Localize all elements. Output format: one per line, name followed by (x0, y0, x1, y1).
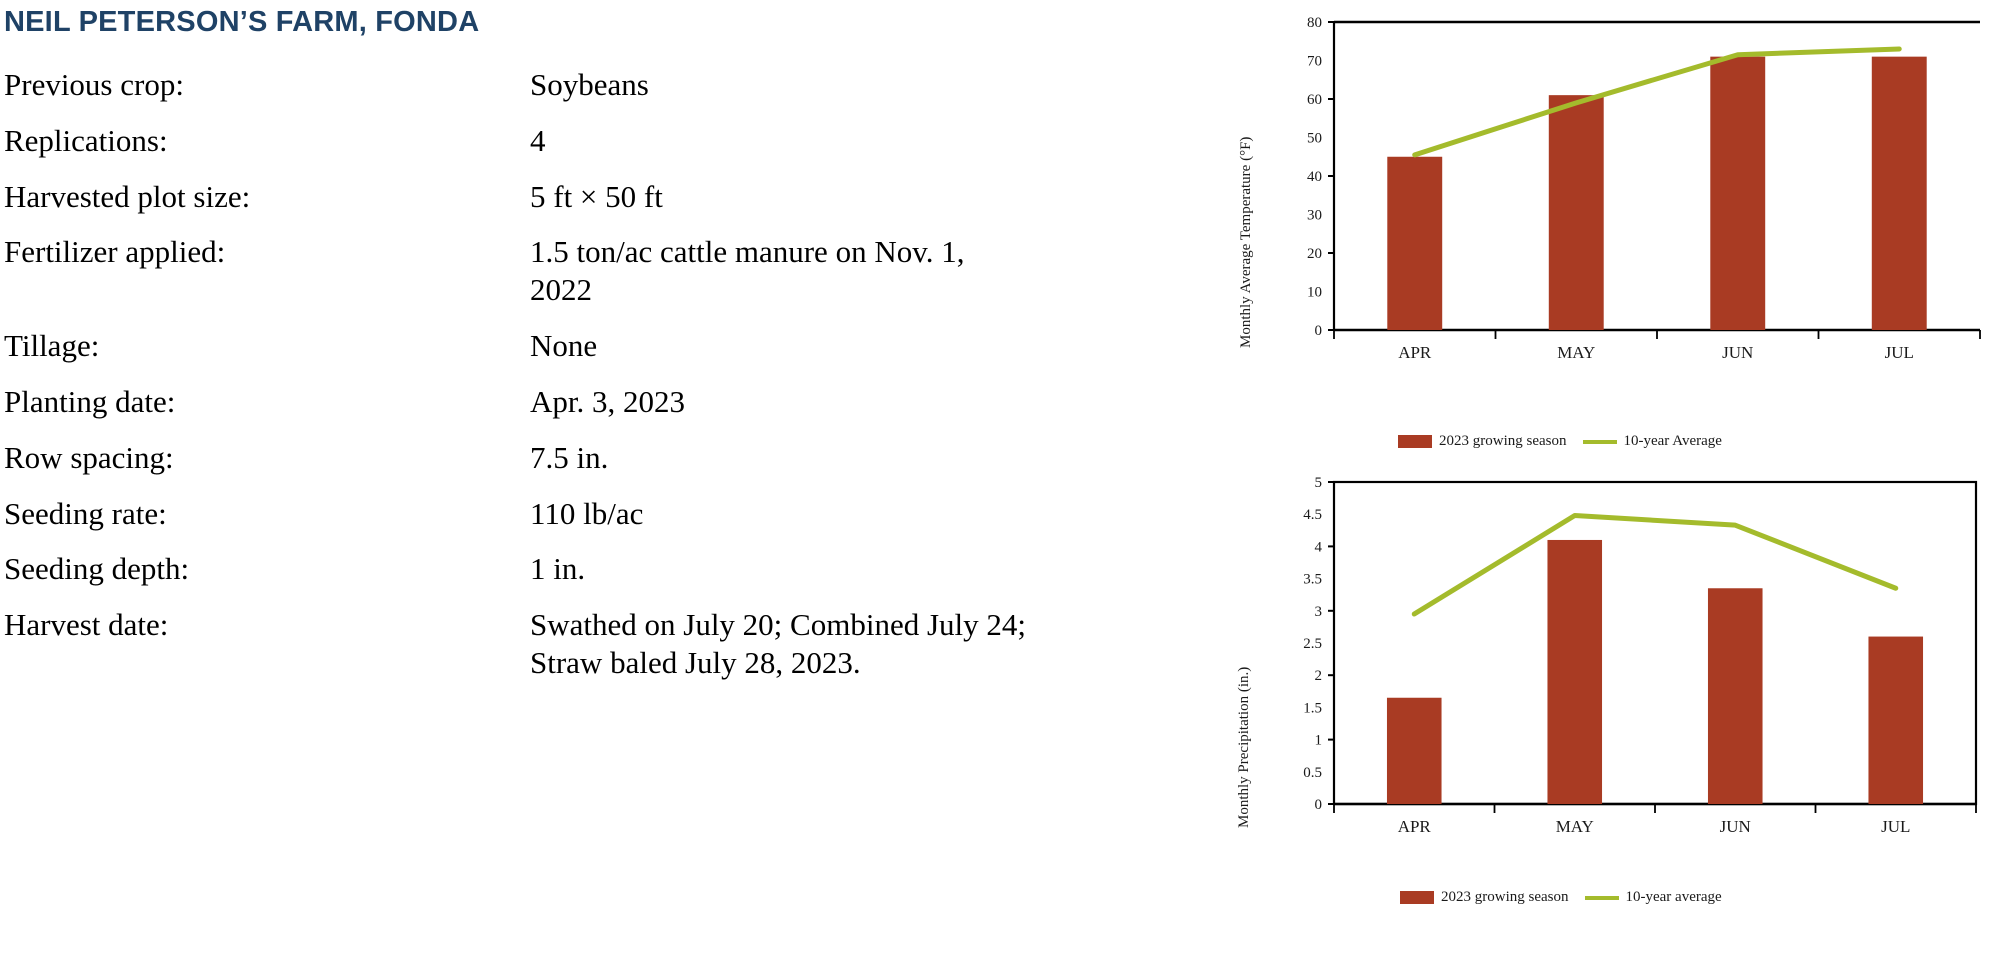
detail-label: Previous crop: (0, 66, 530, 104)
bar-jul (1872, 57, 1927, 330)
y-tick-label: 30 (1307, 208, 1322, 224)
detail-label: Replications: (0, 122, 530, 160)
detail-row: Fertilizer applied:1.5 ton/ac cattle man… (0, 233, 1210, 309)
monthly-precipitation-chart: Monthly Precipitation (in.) 00.511.522.5… (1230, 468, 2000, 938)
legend-bar-label: 2023 growing season (1441, 890, 1569, 905)
bar-jun (1708, 588, 1763, 804)
detail-label: Tillage: (0, 327, 530, 365)
y-tick-label: 40 (1307, 169, 1322, 185)
y-tick-label: 0 (1315, 323, 1323, 339)
detail-row: Planting date:Apr. 3, 2023 (0, 383, 1210, 421)
bar-jul (1868, 637, 1923, 804)
bar-jun (1710, 57, 1765, 330)
average-line (1414, 515, 1896, 614)
x-tick-label: APR (1398, 817, 1432, 836)
detail-label: Harvested plot size: (0, 178, 530, 216)
detail-value: Swathed on July 20; Combined July 24; St… (530, 606, 1210, 682)
precipitation-plot-area: 00.511.522.533.544.55APRMAYJUNJUL (1230, 468, 2000, 938)
detail-row: Row spacing:7.5 in. (0, 439, 1210, 477)
bar-apr (1387, 698, 1442, 804)
x-tick-label: APR (1398, 343, 1432, 362)
y-tick-label: 10 (1307, 285, 1322, 301)
bar-may (1547, 540, 1602, 804)
detail-label: Seeding rate: (0, 495, 530, 533)
temperature-plot-area: 01020304050607080APRMAYJUNJUL (1230, 8, 2000, 460)
legend-entry-line: 10-year average (1585, 890, 1722, 905)
legend-line-swatch-icon (1583, 440, 1617, 444)
detail-label: Row spacing: (0, 439, 530, 477)
x-tick-label: MAY (1556, 817, 1594, 836)
detail-value: 110 lb/ac (530, 495, 1210, 533)
y-tick-label: 60 (1307, 92, 1322, 108)
legend-line-swatch-icon (1585, 896, 1619, 900)
detail-row: Tillage:None (0, 327, 1210, 365)
y-tick-label: 0 (1315, 797, 1323, 813)
detail-label: Planting date: (0, 383, 530, 421)
legend-line-label: 10-year Average (1624, 434, 1722, 449)
detail-value: None (530, 327, 1210, 365)
x-tick-label: JUN (1722, 343, 1753, 362)
detail-row: Seeding depth:1 in. (0, 550, 1210, 588)
page-title: NEIL PETERSON’S FARM, FONDA (4, 6, 479, 39)
bar-may (1549, 95, 1604, 330)
y-tick-label: 2.5 (1303, 636, 1322, 652)
x-tick-label: JUL (1885, 343, 1914, 362)
detail-label: Fertilizer applied: (0, 233, 530, 271)
detail-label: Harvest date: (0, 606, 530, 644)
x-tick-label: MAY (1557, 343, 1595, 362)
y-tick-label: 4.5 (1303, 507, 1322, 523)
monthly-average-temperature-chart: Monthly Average Temperature (°F) 0102030… (1230, 8, 2000, 460)
detail-value: 5 ft × 50 ft (530, 178, 1210, 216)
farm-info-panel: NEIL PETERSON’S FARM, FONDA Previous cro… (0, 0, 1210, 976)
bar-apr (1387, 157, 1442, 330)
legend-entry-bar: 2023 growing season (1400, 890, 1569, 905)
y-tick-label: 5 (1315, 475, 1323, 491)
detail-value: Soybeans (530, 66, 1210, 104)
y-tick-label: 3.5 (1303, 572, 1322, 588)
x-tick-label: JUL (1881, 817, 1910, 836)
legend-line-label: 10-year average (1626, 890, 1722, 905)
legend-entry-bar: 2023 growing season (1398, 434, 1567, 449)
detail-value: 4 (530, 122, 1210, 160)
y-tick-label: 1.5 (1303, 700, 1322, 716)
legend-entry-line: 10-year Average (1583, 434, 1722, 449)
temperature-chart-svg: 01020304050607080APRMAYJUNJUL (1230, 8, 2000, 460)
y-tick-label: 4 (1315, 539, 1323, 555)
precipitation-chart-svg: 00.511.522.533.544.55APRMAYJUNJUL (1230, 468, 2000, 938)
y-tick-label: 2 (1315, 668, 1323, 684)
y-tick-label: 3 (1315, 604, 1323, 620)
detail-value: 7.5 in. (530, 439, 1210, 477)
detail-row: Replications:4 (0, 122, 1210, 160)
y-tick-label: 1 (1315, 733, 1323, 749)
y-tick-label: 50 (1307, 131, 1322, 147)
y-tick-label: 20 (1307, 246, 1322, 262)
y-tick-label: 0.5 (1303, 765, 1322, 781)
detail-value: 1.5 ton/ac cattle manure on Nov. 1, 2022 (530, 233, 1210, 309)
legend-bar-swatch-icon (1398, 435, 1432, 448)
detail-row: Previous crop:Soybeans (0, 66, 1210, 104)
detail-value: 1 in. (530, 550, 1210, 588)
detail-row: Harvested plot size:5 ft × 50 ft (0, 178, 1210, 216)
detail-value: Apr. 3, 2023 (530, 383, 1210, 421)
legend-bar-label: 2023 growing season (1439, 434, 1567, 449)
precipitation-legend: 2023 growing season 10-year average (1400, 890, 1722, 905)
legend-bar-swatch-icon (1400, 891, 1434, 904)
y-tick-label: 80 (1307, 15, 1322, 31)
y-tick-label: 70 (1307, 54, 1322, 70)
detail-row: Harvest date:Swathed on July 20; Combine… (0, 606, 1210, 682)
farm-detail-list: Previous crop:SoybeansReplications:4Harv… (0, 66, 1210, 700)
average-line (1415, 49, 1900, 155)
detail-row: Seeding rate:110 lb/ac (0, 495, 1210, 533)
x-tick-label: JUN (1720, 817, 1751, 836)
detail-label: Seeding depth: (0, 550, 530, 588)
charts-panel: Monthly Average Temperature (°F) 0102030… (1230, 0, 2000, 976)
temperature-legend: 2023 growing season 10-year Average (1398, 434, 1722, 449)
